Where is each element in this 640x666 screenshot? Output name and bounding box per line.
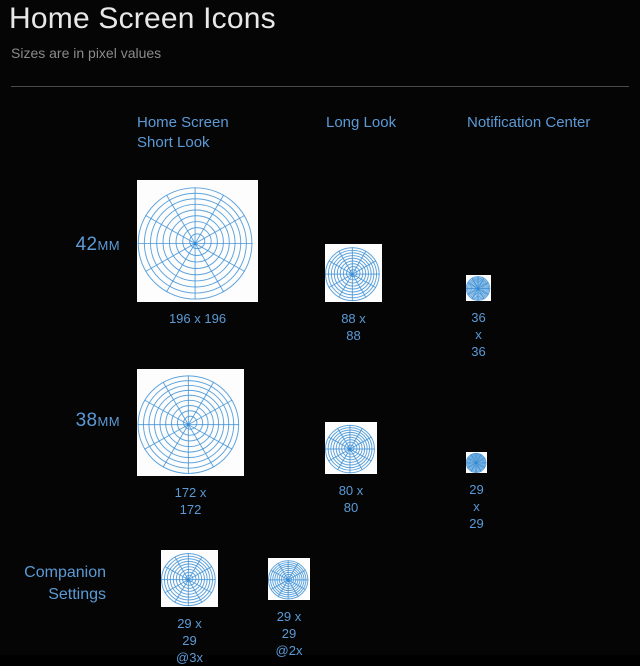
column-header-home-screen-short-look: Home Screen Short Look: [137, 113, 229, 153]
icon-caption: 80 x 80: [338, 482, 364, 516]
icon-cell-companion-settings-3x: 29 x 29 @3x: [161, 550, 218, 607]
row-label-42mm: 42MM: [10, 234, 120, 256]
icon-cell-42mm-notification-center: 36 x 36: [466, 275, 491, 301]
icon-caption: 29 x 29 @2x: [276, 608, 303, 659]
spider-web-icon: [137, 180, 258, 302]
icon-caption: 29 x 29: [469, 481, 483, 532]
row-label-38mm-value: 38: [76, 410, 98, 431]
row-label-42mm-value: 42: [76, 234, 98, 255]
icon-cell-38mm-notification-center: 29 x 29: [466, 452, 487, 473]
spider-web-icon: [161, 550, 218, 607]
spider-web-icon: [325, 244, 382, 302]
page-title: Home Screen Icons: [9, 2, 276, 36]
icon-caption: 88 x 88: [339, 310, 368, 344]
column-header-notification-center: Notification Center: [467, 113, 590, 133]
spider-web-icon: [268, 558, 310, 600]
spider-web-icon: [466, 275, 491, 301]
row-label-38mm-unit: MM: [98, 414, 120, 429]
icon-caption: 29 x 29 @3x: [175, 615, 204, 666]
spider-web-icon: [466, 452, 487, 473]
column-header-long-look: Long Look: [326, 113, 396, 133]
icon-cell-42mm-short-look: 196 x 196: [137, 180, 258, 302]
icon-caption: 196 x 196: [169, 310, 226, 327]
spider-web-icon: [137, 369, 244, 476]
row-label-38mm: 38MM: [10, 410, 120, 432]
icon-caption: 36 x 36: [471, 309, 485, 360]
page-subtitle: Sizes are in pixel values: [11, 45, 161, 61]
icon-cell-companion-settings-2x: 29 x 29 @2x: [268, 558, 310, 600]
spider-web-icon: [325, 422, 377, 474]
icon-cell-38mm-short-look: 172 x 172: [137, 369, 244, 476]
header-divider: [11, 86, 629, 87]
icon-cell-38mm-long-look: 80 x 80: [325, 422, 377, 474]
icon-caption: 172 x 172: [164, 484, 218, 518]
icon-cell-42mm-long-look: 88 x 88: [325, 244, 382, 302]
row-label-42mm-unit: MM: [98, 238, 120, 253]
row-label-companion-settings: Companion Settings: [0, 562, 106, 606]
